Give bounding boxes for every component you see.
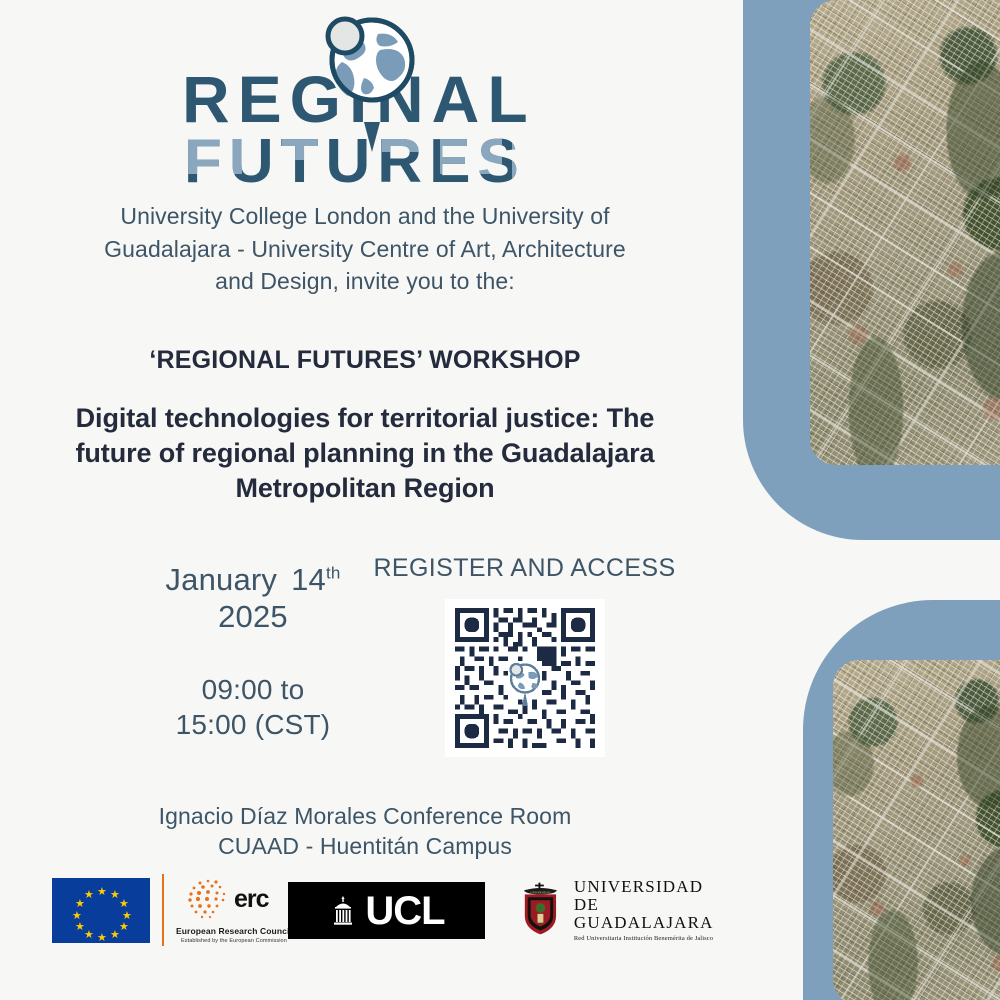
udg-logo: UNIVERSIDAD UNIVERSIDAD DE GUADALAJARA R… [517,878,730,942]
futures-wordmark: FUTURES FUTURES [184,127,526,194]
register-block: REGISTER AND ACCESS [372,554,677,757]
erc-tagline: Established by the European Commission [181,938,287,944]
title-line-3: Metropolitan Region [25,471,705,506]
title-line-2: future of regional planning in the Guada… [25,436,705,471]
erc-swirl-icon: erc [186,877,282,921]
title-line-1: Digital technologies for territorial jus… [25,401,705,436]
date-time-block: January14th 2025 09:00 to 15:00 (CST) [118,562,388,743]
ucl-wordmark: UCL [365,891,444,931]
udg-line-2: GUADALAJARA [574,914,730,932]
date-ordinal: th [326,564,341,583]
intro-paragraph: University College London and the Univer… [50,200,680,298]
erc-wordmark: erc [234,885,270,913]
erc-divider [162,874,164,946]
ucl-portico-icon [328,894,358,928]
intro-line-1: University College London and the Univer… [50,200,680,233]
logo-svg: REGI NAL [182,4,582,194]
qr-center-globe-icon [508,661,542,706]
udg-line-1: UNIVERSIDAD DE [574,878,730,914]
event-time: 09:00 to 15:00 (CST) [118,673,388,742]
workshop-heading: ‘REGIONAL FUTURES’ WORKSHOP [35,346,695,375]
qr-code-icon [455,608,595,748]
erc-name: European Research Council [176,926,292,936]
satellite-image-bottom [833,660,1000,1000]
time-line-2: 15:00 (CST) [118,708,388,743]
satellite-image-top [810,0,1000,465]
intro-line-3: and Design, invite you to the: [50,265,680,298]
intro-line-2: Guadalajara - University Centre of Art, … [50,233,680,266]
erc-logo: ★ ★ ★ ★ ★ ★ ★ ★ ★ ★ ★ ★ [52,874,292,946]
event-date: January14th 2025 [118,562,388,635]
details-row: January14th 2025 09:00 to 15:00 (CST) RE… [0,554,730,784]
venue-block: Ignacio Díaz Morales Conference Room CUA… [45,802,685,862]
udg-crest-icon: UNIVERSIDAD [517,881,564,939]
decorative-side-panel [715,0,1000,1000]
regional-futures-logo: REGI NAL [0,0,730,200]
sponsor-logos: ★ ★ ★ ★ ★ ★ ★ ★ ★ ★ ★ ★ [0,872,730,962]
date-year: 2025 [218,599,288,634]
udg-tagline: Red Universitaria Institución Benemérita… [574,935,730,942]
eu-flag-icon: ★ ★ ★ ★ ★ ★ ★ ★ ★ ★ ★ ★ [52,878,150,943]
ucl-logo: UCL [288,882,485,939]
date-day: 14 [291,562,326,597]
svg-text:UNIVERSIDAD: UNIVERSIDAD [531,890,551,894]
date-month: January [165,562,277,597]
register-label: REGISTER AND ACCESS [372,554,677,583]
venue-line-1: Ignacio Díaz Morales Conference Room [45,802,685,832]
poster-content: REGI NAL [0,0,730,1000]
workshop-title: Digital technologies for territorial jus… [25,401,705,506]
time-line-1: 09:00 to [118,673,388,708]
qr-code[interactable] [445,599,605,757]
venue-line-2: CUAAD - Huentitán Campus [45,832,685,862]
event-poster: REGI NAL [0,0,1000,1000]
